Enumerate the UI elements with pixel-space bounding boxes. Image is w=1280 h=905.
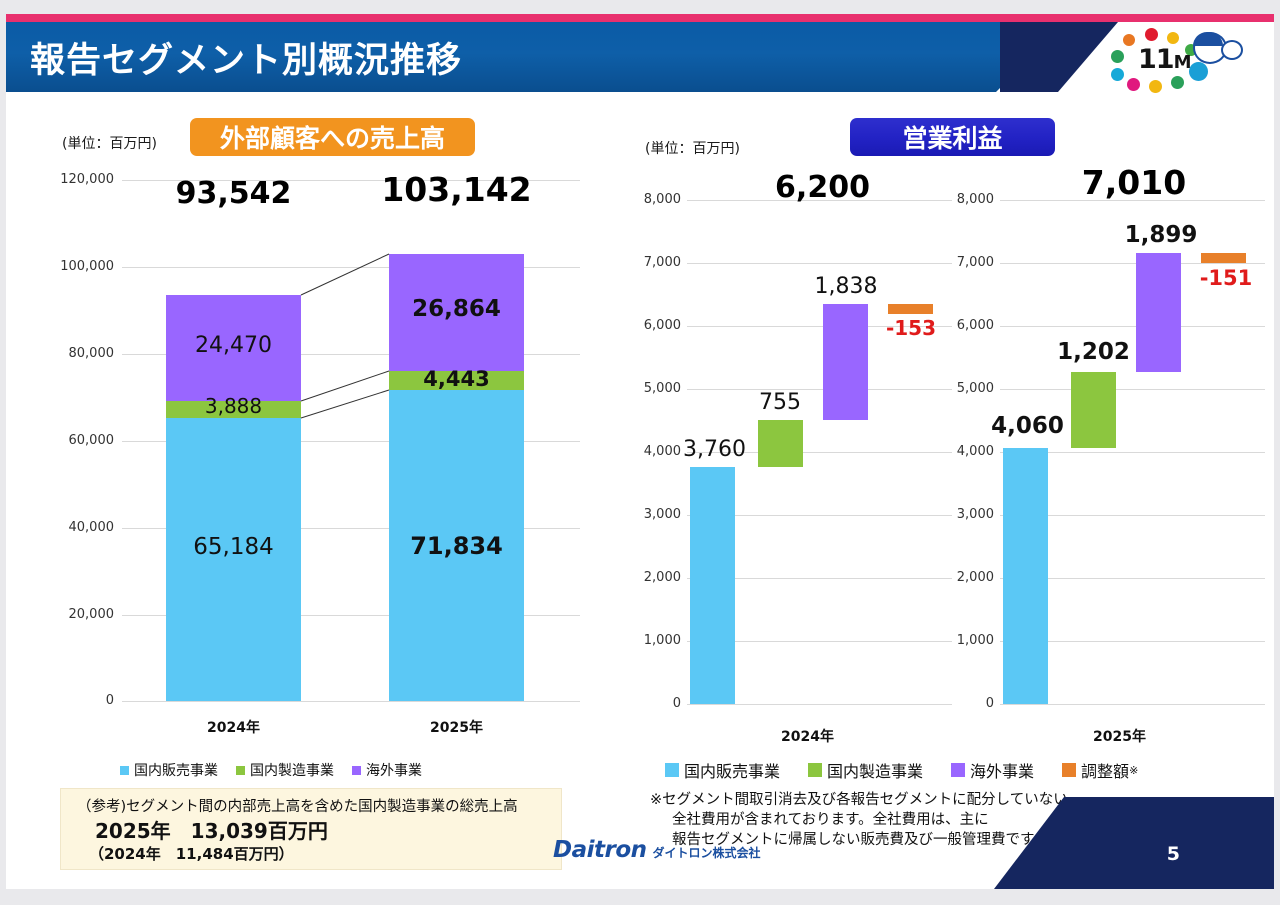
- gridline: [122, 701, 580, 702]
- label-2025-domestic-mfg: 4,443: [389, 367, 524, 391]
- legend-label: 国内製造事業: [827, 758, 923, 782]
- y-tick-2025: 5,000: [939, 381, 994, 396]
- y-tick-2025: 7,000: [939, 255, 994, 270]
- segment-connectors: [300, 250, 392, 410]
- gridline: [1000, 389, 1265, 390]
- legend-label: 国内販売事業: [684, 758, 780, 782]
- bar-2025-profit-domestic-mfg: [1071, 372, 1116, 448]
- gridline: [687, 389, 952, 390]
- legend-label: 調整額: [1081, 758, 1129, 782]
- y-tick-2024: 1,000: [626, 633, 681, 648]
- y-tick-2024: 0: [626, 696, 681, 711]
- bar-2025-profit-domestic-sales: [1003, 448, 1048, 704]
- label-2024-profit-adjustment: -153: [880, 316, 942, 340]
- legend-left: 国内販売事業 国内製造事業 海外事業: [120, 760, 440, 780]
- legend-swatch-domestic-mfg: [236, 766, 245, 775]
- daitron-wordmark: Daitron: [553, 837, 647, 863]
- logo-dot: [1149, 80, 1162, 93]
- legend-item-overseas: 海外事業: [951, 758, 1034, 782]
- y-tick-2025: 3,000: [939, 507, 994, 522]
- bar-2024-profit-domestic-sales: [690, 467, 735, 704]
- label-2025-overseas: 26,864: [389, 296, 524, 322]
- legend-item-domestic-mfg: 国内製造事業: [808, 758, 923, 782]
- legend-swatch-overseas: [352, 766, 361, 775]
- logo-dot: [1123, 34, 1135, 46]
- badge-operating-profit: 営業利益: [850, 118, 1055, 156]
- legend-swatch-domestic-mfg: [808, 763, 822, 777]
- logo-dot: [1167, 32, 1179, 44]
- note-left-line2: 2025年 13,039百万円: [95, 815, 328, 844]
- frame-bottom: [0, 889, 1280, 905]
- y-tick-left: 40,000: [40, 520, 114, 535]
- logo-dot: [1111, 50, 1124, 63]
- legend-item-domestic-mfg: 国内製造事業: [236, 760, 334, 780]
- logo-dot: [1171, 76, 1184, 89]
- label-2025-profit-domestic-sales: 4,060: [985, 413, 1070, 439]
- legend-label: 国内製造事業: [250, 760, 334, 780]
- gridline: [687, 704, 952, 705]
- y-tick-left: 120,000: [40, 172, 114, 187]
- legend-item-domestic-sales: 国内販売事業: [120, 760, 218, 780]
- total-2024-profit: 6,200: [745, 170, 900, 205]
- note-right-line2: 全社費用が含まれております。全社費用は、主に: [672, 811, 989, 830]
- y-tick-2024: 8,000: [626, 192, 681, 207]
- logo-wordmark: 11M: [1138, 44, 1191, 75]
- legend-swatch-adjustment: [1062, 763, 1076, 777]
- badge-sales: 外部顧客への売上高: [190, 118, 475, 156]
- legend-label: 海外事業: [970, 758, 1034, 782]
- page-number: 5: [1167, 843, 1180, 865]
- legend-footnote-mark: ※: [1129, 764, 1138, 777]
- frame-right: [1274, 0, 1280, 905]
- legend-swatch-domestic-sales: [120, 766, 129, 775]
- x-label-2025-profit: 2025年: [1052, 726, 1187, 746]
- right-unit-caption: (単位：百万円): [645, 138, 740, 158]
- logo-dot: [1189, 62, 1208, 81]
- bar-2025-profit-overseas: [1136, 253, 1181, 372]
- y-tick-left: 60,000: [40, 433, 114, 448]
- legend-label: 海外事業: [366, 760, 422, 780]
- footer-navy-shape: [994, 797, 1274, 889]
- legend-label: 国内販売事業: [134, 760, 218, 780]
- note-box-left: （参考)セグメント間の内部売上高を含めた国内製造事業の総売上高 2025年 13…: [60, 788, 562, 870]
- logo-dot: [1145, 28, 1158, 41]
- y-tick-left: 80,000: [40, 346, 114, 361]
- label-2024-domestic-mfg: 3,888: [166, 394, 301, 418]
- header-navy-wedge: [1000, 22, 1120, 92]
- note-left-line3: （2024年 11,484百万円）: [89, 843, 294, 864]
- label-2024-overseas: 24,470: [166, 333, 301, 358]
- legend-item-adjustment: 調整額 ※: [1062, 758, 1138, 782]
- header-pink-stripe: [6, 14, 1274, 22]
- legend-item-overseas: 海外事業: [352, 760, 422, 780]
- logo-character-hand: [1221, 40, 1243, 60]
- legend-right: 国内販売事業 国内製造事業 海外事業 調整額 ※: [665, 758, 1156, 782]
- legend-item-domestic-sales: 国内販売事業: [665, 758, 780, 782]
- x-label-2025-sales: 2025年: [389, 717, 524, 737]
- frame-left: [0, 0, 6, 905]
- gridline: [1000, 263, 1265, 264]
- y-tick-left: 0: [40, 693, 114, 708]
- bar-2025-profit-adjustment: [1201, 253, 1246, 263]
- slide: 報告セグメント別概況推移 11M (単位：百万円) 外部顧客への売上高 120,…: [0, 0, 1280, 905]
- legend-swatch-overseas: [951, 763, 965, 777]
- company-logo: 11M: [1105, 28, 1250, 90]
- x-label-2024-sales: 2024年: [166, 717, 301, 737]
- page-title: 報告セグメント別概況推移: [30, 32, 462, 83]
- y-tick-2025: 4,000: [939, 444, 994, 459]
- y-tick-2024: 5,000: [626, 381, 681, 396]
- daitron-wordmark-jp: ダイトロン株式会社: [653, 844, 761, 861]
- logo-dot: [1111, 68, 1124, 81]
- bar-2024-profit-domestic-mfg: [758, 420, 803, 467]
- y-tick-left: 100,000: [40, 259, 114, 274]
- y-tick-2025: 6,000: [939, 318, 994, 333]
- left-unit-caption: (単位：百万円): [62, 133, 157, 153]
- total-2025-profit: 7,010: [1055, 163, 1213, 202]
- y-tick-2024: 2,000: [626, 570, 681, 585]
- gridline: [687, 263, 952, 264]
- total-2024: 93,542: [146, 176, 321, 211]
- label-2024-domestic-sales: 65,184: [166, 534, 301, 560]
- daitron-logo: Daitron ダイトロン株式会社: [553, 837, 761, 863]
- y-tick-2024: 7,000: [626, 255, 681, 270]
- label-2025-profit-domestic-mfg: 1,202: [1051, 339, 1136, 365]
- y-tick-2025: 1,000: [939, 633, 994, 648]
- x-label-2024-profit: 2024年: [740, 726, 875, 746]
- label-2025-domestic-sales: 71,834: [389, 532, 524, 560]
- gridline: [1000, 704, 1265, 705]
- label-2025-profit-overseas: 1,899: [1116, 222, 1206, 248]
- label-2024-profit-overseas: 1,838: [800, 274, 892, 299]
- gridline: [1000, 326, 1265, 327]
- note-left-line1: （参考)セグメント間の内部売上高を含めた国内製造事業の総売上高: [77, 795, 518, 816]
- legend-swatch-domestic-sales: [665, 763, 679, 777]
- y-tick-2025: 2,000: [939, 570, 994, 585]
- logo-dot: [1127, 78, 1140, 91]
- bar-2024-profit-overseas: [823, 304, 868, 420]
- y-tick-2025: 8,000: [939, 192, 994, 207]
- bar-2024-profit-adjustment: [888, 304, 933, 314]
- label-2025-profit-adjustment: -151: [1195, 266, 1257, 290]
- total-2025: 103,142: [369, 170, 544, 209]
- label-2024-profit-domestic-sales: 3,760: [672, 437, 757, 462]
- note-right-line1: ※セグメント間取引消去及び各報告セグメントに配分していない: [650, 791, 1068, 810]
- y-tick-2024: 6,000: [626, 318, 681, 333]
- y-tick-2024: 3,000: [626, 507, 681, 522]
- label-2024-profit-domestic-mfg: 755: [745, 390, 815, 415]
- y-tick-left: 20,000: [40, 607, 114, 622]
- y-tick-2025: 0: [939, 696, 994, 711]
- frame-top: [0, 0, 1280, 14]
